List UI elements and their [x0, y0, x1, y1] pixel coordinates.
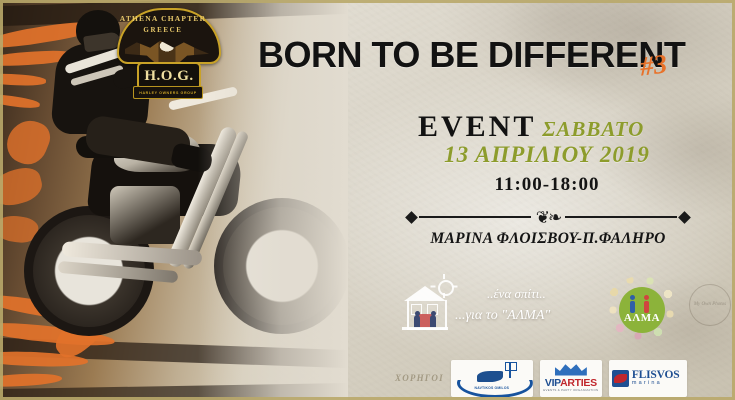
- crown-icon: [555, 364, 587, 376]
- divider-line: [419, 216, 531, 218]
- sun-ray: [443, 274, 445, 279]
- figure-head: [644, 295, 649, 300]
- hog-chapter-badge: ATHENA CHAPTER GREECE H.O.G. HARLEY OWNE…: [113, 6, 221, 98]
- sun-ray: [453, 286, 458, 288]
- sponsor-logo-flisvos-marina[interactable]: FLISVOS marina: [609, 360, 687, 397]
- photographer-watermark: My Own Photos: [689, 284, 731, 326]
- sponsors-label: ΧΟΡΗΓΟΙ: [395, 373, 444, 383]
- alma-figures-icon: [628, 294, 658, 314]
- badge-chapter-name: ATHENA CHAPTER: [113, 14, 213, 23]
- flag-shape: [505, 362, 517, 371]
- flisvos-subtitle: marina: [632, 381, 680, 387]
- badge-ribbon: HARLEY OWNERS GROUP: [133, 86, 203, 99]
- badge-country: GREECE: [113, 26, 213, 34]
- figure-head: [630, 295, 635, 300]
- fish-shape: [477, 371, 503, 382]
- house-icon: [398, 278, 456, 334]
- fish-boat-icon: NAVTIKOS OMILOS: [455, 362, 529, 394]
- alma-logo-text: ΑΛΜΑ: [619, 312, 665, 324]
- divider-line: [565, 216, 677, 218]
- flisvos-text: FLISVOS marina: [632, 370, 680, 387]
- event-date: 13 ΑΠΡΙΛΙΟΥ 2019: [418, 142, 676, 168]
- ornamental-divider: ❦❧: [404, 208, 692, 226]
- badge-mark-text: H.O.G.: [144, 68, 193, 85]
- house-base: [402, 327, 448, 330]
- edition-number: #3: [638, 48, 669, 82]
- charity-script-line-2: ...για το "ΑΛΜΑ": [455, 308, 550, 324]
- flourish-icon: ❦❧: [536, 209, 561, 226]
- event-line: EVENT ΣΑΒΒΑΤΟ: [418, 110, 676, 144]
- diamond-icon: [678, 211, 691, 224]
- sponsors-row: ΧΟΡΗΓΟΙ NAVTIKOS OMILOS VIPARTIES EVENTS…: [395, 358, 705, 398]
- sponsor-caption: NAVTIKOS OMILOS: [461, 386, 523, 390]
- house-roof: [404, 286, 446, 301]
- viparties-mark: VIPARTIES EVENTS & PARTY ORGANIZATION: [542, 362, 600, 395]
- flisvos-mark: FLISVOS marina: [612, 364, 684, 392]
- event-venue: ΜΑΡΙΝΑ ΦΛΟΙΣΒΟΥ-Π.ΦΑΛΗΡΟ: [380, 230, 716, 248]
- event-day-name: ΣΑΒΒΑΤΟ: [542, 117, 644, 142]
- event-poster: ATHENA CHAPTER GREECE H.O.G. HARLEY OWNE…: [0, 0, 735, 400]
- diamond-icon: [405, 211, 418, 224]
- swoosh-icon: [612, 370, 629, 387]
- charity-script-line-1: ..ένα σπίτι..: [487, 286, 546, 302]
- sponsor-logo-viparties[interactable]: VIPARTIES EVENTS & PARTY ORGANIZATION: [540, 360, 602, 397]
- page-title: BORN TO BE DIFFERENT: [258, 34, 685, 76]
- badge-ribbon-text: HARLEY OWNERS GROUP: [139, 91, 196, 95]
- viparties-tagline: EVENTS & PARTY ORGANIZATION: [542, 388, 600, 392]
- sponsor-logo-nautical-club[interactable]: NAVTIKOS OMILOS: [451, 360, 533, 397]
- swoosh-shape: [614, 374, 627, 383]
- event-time: 11:00-18:00: [418, 174, 676, 196]
- alma-logo: ΑΛΜΑ: [604, 276, 680, 344]
- event-label: EVENT: [418, 110, 536, 144]
